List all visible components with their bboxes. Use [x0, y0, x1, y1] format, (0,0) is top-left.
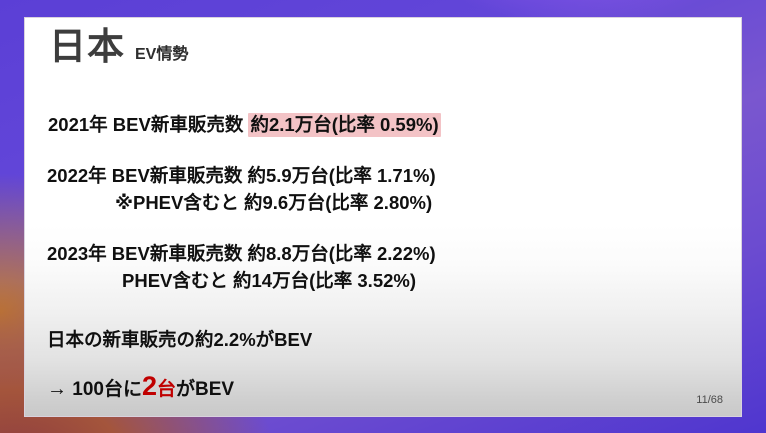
summary-line: 日本の新車販売の約2.2%がBEV	[47, 329, 312, 351]
slide-title: 日本 EV情勢	[49, 28, 188, 65]
stat-line-2022: 2022年 BEV新車販売数 約5.9万台(比率 1.71%)	[47, 165, 436, 187]
slide-canvas: 日本 EV情勢 2021年 BEV新車販売数 約2.1万台(比率 0.59%) …	[24, 17, 742, 417]
stat-line-2023: 2023年 BEV新車販売数 約8.8万台(比率 2.22%)	[47, 243, 436, 265]
ratio-number: 2	[142, 371, 157, 401]
page-title: 日本	[49, 28, 125, 65]
page-number: 11/68	[696, 394, 723, 406]
stat-line-2021: 2021年 BEV新車販売数 約2.1万台(比率 0.59%)	[48, 114, 441, 136]
stat-line-2022-phev-note: ※PHEV含むと 約9.6万台(比率 2.80%)	[115, 192, 432, 214]
ratio-before-text: 100台に	[67, 379, 142, 400]
page-subtitle: EV情勢	[135, 47, 188, 63]
ratio-line: → 100台に2台がBEV	[47, 373, 234, 402]
ratio-unit: 台	[157, 379, 176, 400]
right-arrow-icon: →	[47, 378, 67, 400]
stat-line-2023-phev-note: PHEV含むと 約14万台(比率 3.52%)	[122, 270, 416, 292]
stat-2021-highlight: 約2.1万台(比率 0.59%)	[248, 113, 440, 137]
ratio-after-text: がBEV	[176, 379, 234, 400]
stat-2021-prefix: 2021年 BEV新車販売数	[48, 114, 248, 135]
slide-frame: 日本 EV情勢 2021年 BEV新車販売数 約2.1万台(比率 0.59%) …	[0, 0, 766, 433]
